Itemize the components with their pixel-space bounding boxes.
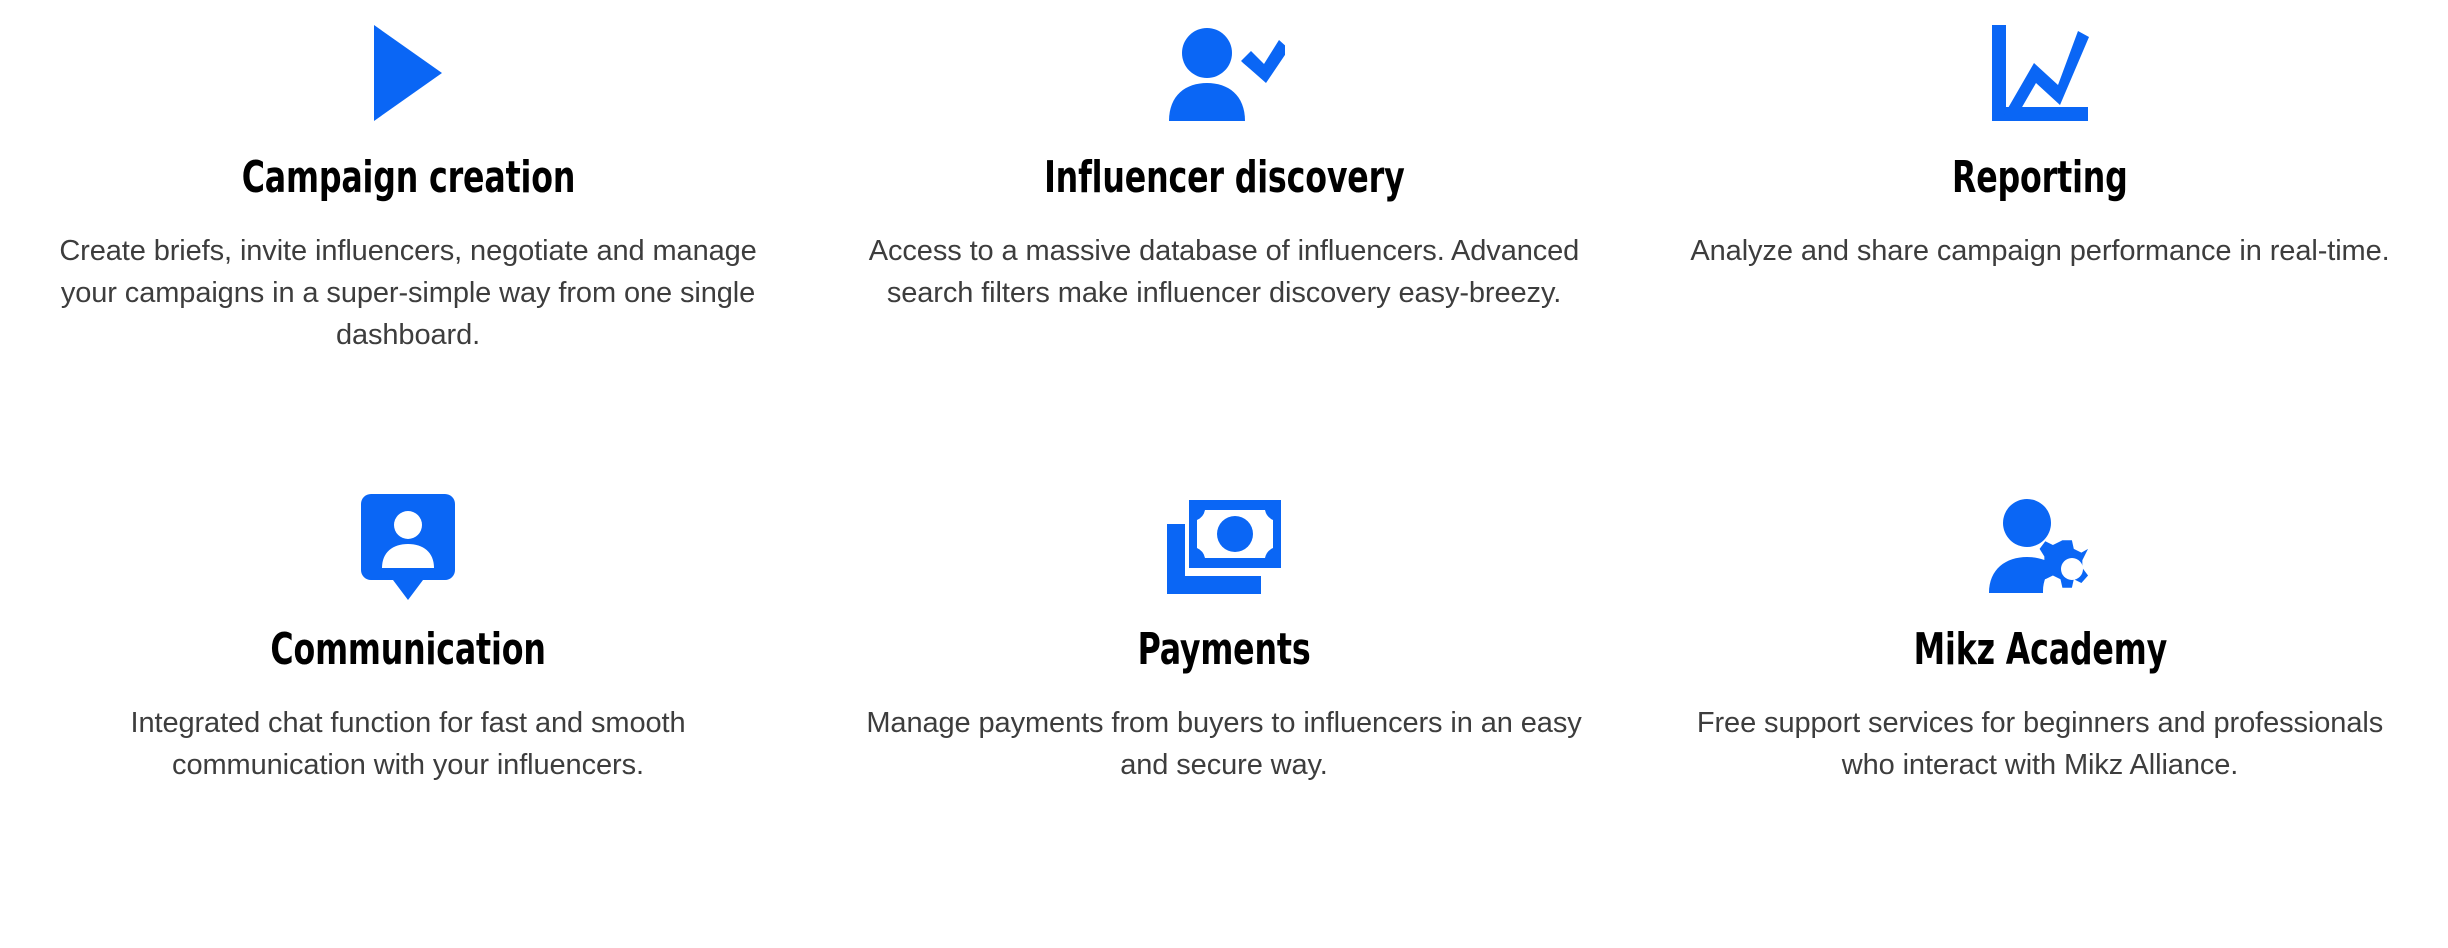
feature-title: Communication: [270, 628, 545, 672]
feature-grid: Campaign creation Create briefs, invite …: [0, 0, 2448, 948]
play-triangle-icon: [370, 18, 446, 128]
feature-card-reporting: Reporting Analyze and share campaign per…: [1632, 0, 2448, 474]
banknotes-icon: [1165, 492, 1283, 602]
feature-card-campaign-creation: Campaign creation Create briefs, invite …: [0, 0, 816, 474]
feature-description: Access to a massive database of influenc…: [854, 230, 1594, 314]
feature-title: Reporting: [1952, 156, 2128, 200]
feature-description: Create briefs, invite influencers, negot…: [38, 230, 778, 356]
feature-description: Integrated chat function for fast and sm…: [38, 702, 778, 786]
feature-description: Manage payments from buyers to influence…: [854, 702, 1594, 786]
feature-card-influencer-discovery: Influencer discovery Access to a massive…: [816, 0, 1632, 474]
feature-title: Campaign creation: [241, 156, 575, 200]
feature-card-payments: Payments Manage payments from buyers to …: [816, 474, 1632, 948]
feature-description: Analyze and share campaign performance i…: [1670, 230, 2410, 272]
feature-description: Free support services for beginners and …: [1670, 702, 2410, 786]
feature-title: Influencer discovery: [1044, 156, 1405, 200]
chat-bubble-person-icon: [359, 492, 457, 602]
person-check-icon: [1163, 18, 1285, 128]
line-chart-icon: [1988, 18, 2092, 128]
feature-card-mikz-academy: Mikz Academy Free support services for b…: [1632, 474, 2448, 948]
feature-title: Payments: [1138, 628, 1311, 672]
feature-title: Mikz Academy: [1913, 628, 2166, 672]
feature-card-communication: Communication Integrated chat function f…: [0, 474, 816, 948]
person-gear-icon: [1981, 492, 2099, 602]
